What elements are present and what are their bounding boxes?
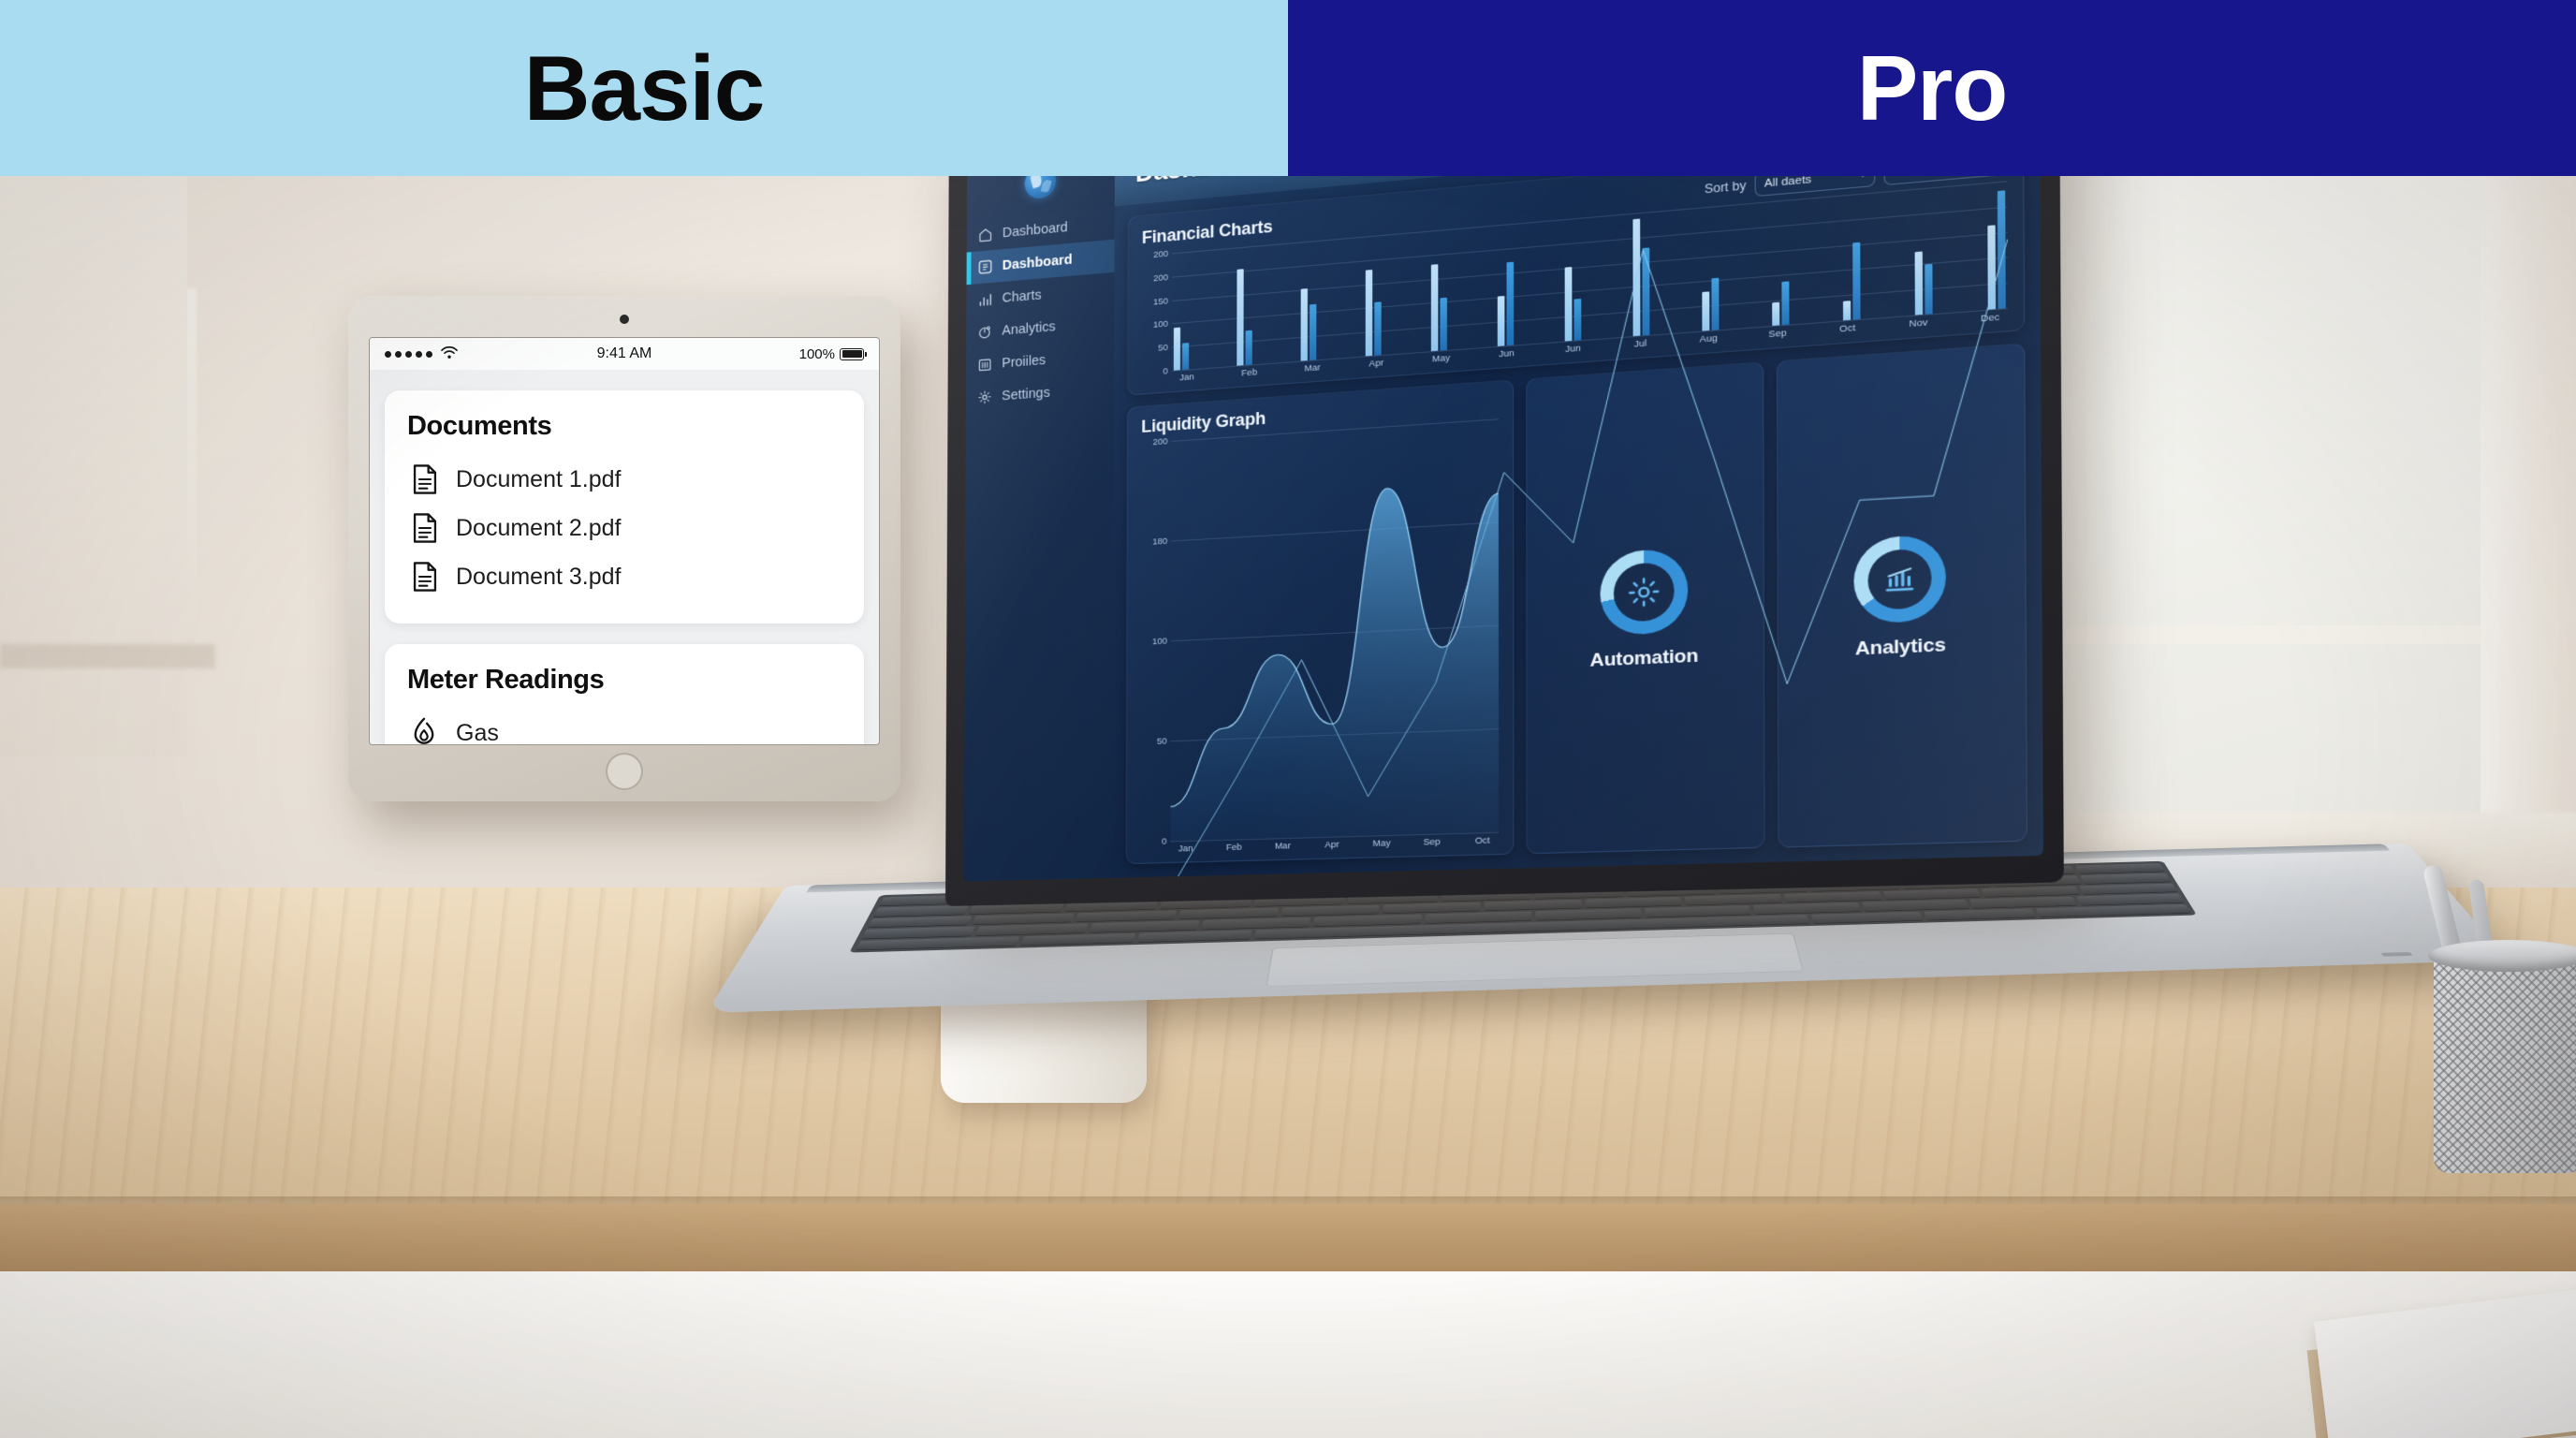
axis-tick-label: Feb [1221, 842, 1248, 853]
laptop-lid: Dashboard Dashboard [945, 176, 2064, 906]
bottom-row: Liquidity Graph 200180100500 [1126, 343, 2027, 864]
document-icon [411, 512, 439, 544]
bar [1301, 288, 1308, 360]
axis-tick-label: Jun [1492, 347, 1520, 360]
banner-pro-label: Pro [1857, 36, 2007, 141]
grid-icon [977, 258, 993, 275]
list-item[interactable]: Document 2.pdf [407, 504, 842, 552]
axis-tick-label: May [1427, 352, 1456, 365]
sidebar-item-label: Proiiles [1002, 352, 1046, 371]
bar [1642, 247, 1649, 335]
laptop-screen: Dashboard Dashboard [964, 176, 2043, 882]
pen-cup-rim [2428, 940, 2576, 972]
axis-tick-label: Feb [1236, 367, 1263, 379]
banner-basic-label: Basic [524, 36, 765, 141]
pen-cup [2424, 869, 2576, 1178]
axis-tick-label: 180 [1152, 536, 1167, 547]
analytics-progress-ring [1854, 534, 1947, 624]
comparison-banner: Basic Pro [0, 0, 2576, 176]
bar [1998, 190, 2006, 309]
analytics-tile[interactable]: Analytics [1776, 343, 2027, 847]
bar [1498, 296, 1505, 346]
document-icon [411, 463, 439, 495]
sidebar-item-label: Dashboard [1003, 252, 1073, 272]
axis-tick-label: 50 [1157, 736, 1167, 747]
app-logo-icon [1025, 176, 1057, 199]
bar-group [1843, 194, 1861, 320]
axis-tick-label: Jan [1172, 844, 1199, 855]
axis-tick-label: 100 [1153, 318, 1168, 330]
meter-readings-card: Meter Readings Gas [385, 644, 864, 745]
list-item-label: Document 3.pdf [456, 564, 622, 591]
automation-tile-label: Automation [1590, 646, 1699, 673]
banner-basic-half: Basic [0, 0, 1288, 176]
desk-photo-scene: 9:41 AM 100% Documents [0, 176, 2576, 1438]
list-item-label: Document 1.pdf [456, 466, 622, 493]
area-chart-series [1170, 418, 1499, 841]
dropdown-value: All tiets [1894, 176, 1934, 178]
pie-chart-icon [977, 324, 993, 341]
laptop-trackpad[interactable] [1266, 933, 1804, 987]
desk-front-area [0, 1271, 2576, 1438]
axis-tick-label: 50 [1158, 343, 1168, 354]
axis-tick-label: Sep [1418, 836, 1446, 847]
screenshot-root: Basic Pro [0, 0, 2576, 1438]
bar-chart-y-axis: 200200150100500 [1141, 253, 1172, 373]
axis-tick-label: Jun [1559, 343, 1588, 356]
axis-tick-label: 200 [1153, 248, 1168, 259]
bar [1374, 302, 1381, 356]
document-icon [411, 561, 439, 593]
axis-tick-label: 0 [1162, 836, 1166, 846]
bar-group [1632, 212, 1649, 336]
bar-group [1914, 187, 1932, 315]
gear-icon [977, 389, 993, 405]
tablet-camera [620, 315, 629, 324]
bar [1565, 267, 1573, 341]
desk-edge [0, 1204, 2576, 1271]
wifi-icon [440, 345, 459, 362]
bar [1237, 269, 1243, 365]
bar [1702, 291, 1709, 330]
axis-tick-label: Nov [1903, 316, 1934, 330]
area-chart-y-axis: 200180100500 [1140, 441, 1172, 842]
bar-group [1772, 199, 1790, 326]
axis-tick-label: Aug [1693, 332, 1723, 345]
axis-tick-label: Mar [1298, 362, 1325, 374]
list-item[interactable]: Document 3.pdf [407, 552, 842, 601]
bar [1574, 299, 1582, 341]
liquidity-graph-title: Liquidity Graph [1141, 408, 1266, 437]
axis-tick-label: Mar [1269, 841, 1296, 852]
automation-progress-ring [1600, 548, 1688, 636]
bar [1174, 328, 1180, 371]
axis-tick-label: 100 [1152, 636, 1167, 647]
bar [1987, 225, 1996, 309]
bar-group [1301, 241, 1317, 361]
bar [1843, 301, 1851, 320]
axis-tick-label: Oct [1833, 322, 1863, 335]
dropdown-value: All daets [1764, 176, 1811, 189]
liquidity-graph-panel: Liquidity Graph 200180100500 [1126, 379, 1515, 864]
laptop-port [2380, 952, 2413, 957]
bar [1852, 242, 1860, 320]
wall-shelf [0, 644, 215, 668]
flame-icon [411, 717, 439, 745]
tablet-clock: 9:41 AM [597, 345, 652, 362]
bar [1366, 270, 1372, 357]
bar-chart-icon [1881, 561, 1919, 597]
bar-group [1366, 235, 1382, 356]
bar-group [1987, 181, 2006, 309]
sidebar-item-label: Charts [1003, 287, 1042, 305]
axis-tick-label: Sep [1763, 328, 1793, 341]
dashboard-app: Dashboard Dashboard [964, 176, 2043, 882]
financial-charts-title: Financial Charts [1142, 217, 1273, 249]
tablet-home-button[interactable] [606, 753, 643, 790]
banner-pro-half: Pro [1288, 0, 2576, 176]
bar [1182, 343, 1189, 370]
list-item[interactable]: Gas [407, 709, 842, 745]
documents-card: Documents Document 1.pdf [385, 390, 864, 624]
signal-dots-icon [385, 351, 432, 358]
bar-group [1498, 224, 1514, 346]
bar [1431, 264, 1439, 351]
bar-group [1237, 246, 1252, 366]
bar [1925, 264, 1932, 315]
axis-tick-label: Apr [1363, 358, 1391, 371]
bar [1915, 251, 1923, 315]
bar [1711, 278, 1719, 330]
list-item-label: Gas [456, 720, 499, 746]
axis-tick-label: Jan [1174, 372, 1201, 384]
gear-icon [1626, 574, 1661, 609]
sidebar-item-label: Analytics [1002, 319, 1055, 339]
axis-tick-label: Dec [1975, 312, 2006, 326]
wall-left-panel [0, 176, 187, 756]
analytics-tile-label: Analytics [1855, 635, 1946, 661]
automation-tile[interactable]: Automation [1526, 361, 1764, 854]
axis-tick-label: Oct [1469, 835, 1497, 846]
bar [1246, 330, 1252, 365]
sidebar-item-label: Settings [1002, 385, 1050, 404]
bar-chart-icon [977, 291, 993, 308]
axis-tick-label: 200 [1153, 271, 1168, 283]
bar [1507, 261, 1515, 345]
bar-group [1431, 229, 1447, 351]
sort-by-label: Sort by [1705, 178, 1747, 196]
sidebar: Dashboard Dashboard [964, 176, 1115, 882]
page-title: Dashboard [1135, 176, 1268, 188]
bar [1781, 281, 1789, 325]
building-icon [977, 356, 993, 373]
chevron-down-icon: ▾ [1861, 176, 1866, 181]
axis-tick-label: 150 [1153, 295, 1168, 306]
axis-tick-label: 0 [1163, 366, 1167, 377]
bar [1310, 304, 1316, 360]
laptop-device: Dashboard Dashboard [800, 176, 2485, 1131]
bar [1772, 302, 1779, 326]
list-item-label: Document 2.pdf [456, 515, 622, 542]
meter-readings-card-title: Meter Readings [407, 665, 842, 696]
home-icon [977, 226, 993, 242]
axis-tick-label: 200 [1152, 436, 1167, 448]
area-chart-plot-area [1170, 418, 1499, 841]
sidebar-item-label: Dashboard [1003, 220, 1068, 241]
bar [1632, 218, 1640, 336]
bar-group [1174, 252, 1190, 371]
bar-group [1565, 218, 1582, 342]
axis-tick-label: Apr [1318, 839, 1345, 850]
documents-card-title: Documents [407, 411, 842, 442]
bar [1440, 298, 1447, 350]
axis-tick-label: May [1368, 838, 1396, 849]
pen-cup-body [2434, 953, 2576, 1173]
axis-tick-label: Jul [1626, 338, 1655, 351]
area-chart-plot: 200180100500 [1140, 418, 1499, 842]
list-item[interactable]: Document 1.pdf [407, 455, 842, 504]
dashboard-content: Financial Charts Sort by All daets ▾ [1112, 176, 2042, 878]
bar-group [1702, 206, 1719, 331]
main-area: Dashboard [1112, 176, 2042, 878]
